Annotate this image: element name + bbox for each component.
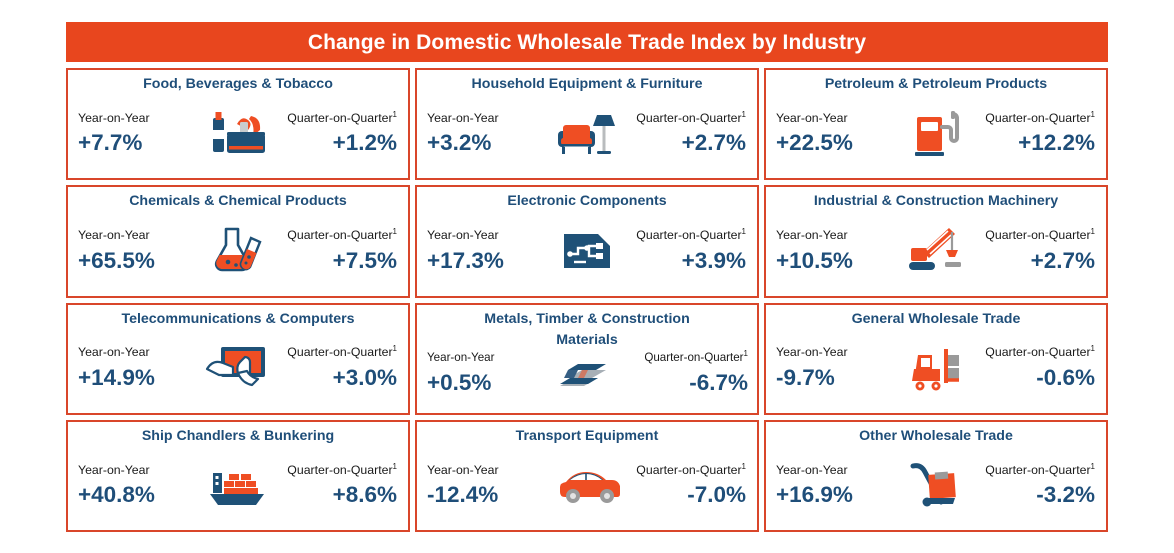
yoy-value: +22.5%: [776, 130, 853, 157]
qoq-label: Quarter-on-Quarter1: [287, 228, 397, 243]
card-title: Other Wholesale Trade: [774, 427, 1098, 444]
qoq-label: Quarter-on-Quarter1: [644, 351, 748, 365]
yoy-label: Year-on-Year: [776, 345, 848, 360]
card-body: Year-on-Year +17.3%: [425, 211, 749, 292]
yoy-metric: Year-on-Year +40.8%: [76, 463, 199, 509]
container-ship-icon: [201, 456, 275, 516]
card-body: Year-on-Year +65.5%: [76, 211, 400, 292]
sofa-lamp-icon: [550, 104, 624, 164]
footnote-marker: 1: [1091, 227, 1095, 236]
yoy-value: -9.7%: [776, 365, 835, 392]
card-title: Chemicals & Chemical Products: [76, 192, 400, 209]
yoy-metric: Year-on-Year +22.5%: [774, 111, 897, 157]
card-title: Food, Beverages & Tobacco: [76, 75, 400, 92]
card-title: General Wholesale Trade: [774, 310, 1098, 327]
qoq-value: +3.0%: [333, 365, 397, 392]
card-title: Telecommunications & Computers: [76, 310, 400, 327]
footnote-marker: 1: [742, 110, 746, 119]
car-icon: [550, 456, 624, 516]
page-title: Change in Domestic Wholesale Trade Index…: [308, 32, 866, 53]
yoy-label: Year-on-Year: [78, 345, 150, 360]
yoy-label: Year-on-Year: [427, 228, 499, 243]
qoq-value: +3.9%: [682, 248, 746, 275]
card-body: Year-on-Year +14.9% Quarter-on-Quarter1 …: [76, 328, 400, 409]
card-title: Electronic Components: [425, 192, 749, 209]
qoq-value: -0.6%: [1036, 365, 1095, 392]
crane-icon: [899, 221, 973, 281]
qoq-label: Quarter-on-Quarter1: [985, 228, 1095, 243]
card-body: Year-on-Year +10.5%: [774, 211, 1098, 292]
yoy-metric: Year-on-Year -12.4%: [425, 463, 548, 509]
card-title: Metals, Timber & Construction: [425, 310, 749, 327]
footnote-marker: 1: [1091, 344, 1095, 353]
title-banner: Change in Domestic Wholesale Trade Index…: [66, 22, 1108, 62]
yoy-label: Year-on-Year: [427, 463, 499, 478]
yoy-label: Year-on-Year: [776, 228, 848, 243]
qoq-value: +2.7%: [682, 130, 746, 157]
qoq-value: +8.6%: [333, 482, 397, 509]
footnote-marker: 1: [393, 227, 397, 236]
qoq-metric: Quarter-on-Quarter1 +8.6%: [277, 463, 400, 509]
yoy-value: +40.8%: [78, 482, 155, 509]
footnote-marker: 1: [393, 110, 397, 119]
card-title: Household Equipment & Furniture: [425, 75, 749, 92]
industry-card-telecommunications-computers[interactable]: Telecommunications & Computers Year-on-Y…: [66, 303, 410, 415]
qoq-value: -7.0%: [687, 482, 746, 509]
card-body: Year-on-Year +16.9% Quarter-on-Quarter1 …: [774, 445, 1098, 526]
qoq-label: Quarter-on-Quarter1: [287, 463, 397, 478]
qoq-value: -6.7%: [689, 370, 748, 397]
qoq-label: Quarter-on-Quarter1: [985, 345, 1095, 360]
yoy-label: Year-on-Year: [78, 111, 150, 126]
steel-beam-icon: [550, 344, 624, 404]
qoq-value: -3.2%: [1036, 482, 1095, 509]
card-body: Year-on-Year +0.5% Quarter-on-Quarter1: [425, 339, 749, 409]
card-body: Year-on-Year -12.4%: [425, 445, 749, 526]
yoy-value: +10.5%: [776, 248, 853, 275]
yoy-value: +65.5%: [78, 248, 155, 275]
card-title: Petroleum & Petroleum Products: [774, 75, 1098, 92]
yoy-value: +7.7%: [78, 130, 142, 157]
footnote-marker: 1: [393, 344, 397, 353]
yoy-value: -12.4%: [427, 482, 498, 509]
qoq-value: +2.7%: [1031, 248, 1095, 275]
yoy-value: +14.9%: [78, 365, 155, 392]
fuel-pump-icon: [899, 104, 973, 164]
footnote-marker: 1: [744, 349, 748, 358]
card-body: Year-on-Year +40.8%: [76, 445, 400, 526]
card-body: Year-on-Year -9.7%: [774, 328, 1098, 409]
yoy-value: +3.2%: [427, 130, 491, 157]
industry-card-grid: Food, Beverages & Tobacco Year-on-Year +…: [66, 68, 1108, 532]
yoy-label: Year-on-Year: [776, 111, 848, 126]
qoq-label: Quarter-on-Quarter1: [287, 111, 397, 126]
card-title: Industrial & Construction Machinery: [774, 192, 1098, 209]
tablet-touch-icon: [201, 338, 275, 398]
industry-card-chemicals[interactable]: Chemicals & Chemical Products Year-on-Ye…: [66, 185, 410, 297]
industry-card-electronic-components[interactable]: Electronic Components Year-on-Year +17.3…: [415, 185, 759, 297]
card-title: Transport Equipment: [425, 427, 749, 444]
yoy-metric: Year-on-Year +16.9%: [774, 463, 897, 509]
qoq-metric: Quarter-on-Quarter1 -0.6%: [975, 345, 1098, 391]
qoq-metric: Quarter-on-Quarter1 +3.9%: [626, 228, 749, 274]
industry-card-other-wholesale-trade[interactable]: Other Wholesale Trade Year-on-Year +16.9…: [764, 420, 1108, 532]
qoq-value: +7.5%: [333, 248, 397, 275]
yoy-value: +17.3%: [427, 248, 504, 275]
industry-card-household-equipment-furniture[interactable]: Household Equipment & Furniture Year-on-…: [415, 68, 759, 180]
yoy-metric: Year-on-Year +7.7%: [76, 111, 199, 157]
qoq-metric: Quarter-on-Quarter1 +7.5%: [277, 228, 400, 274]
qoq-label: Quarter-on-Quarter1: [985, 463, 1095, 478]
yoy-metric: Year-on-Year +10.5%: [774, 228, 897, 274]
qoq-label: Quarter-on-Quarter1: [985, 111, 1095, 126]
footnote-marker: 1: [742, 462, 746, 471]
industry-card-general-wholesale-trade[interactable]: General Wholesale Trade Year-on-Year -9.…: [764, 303, 1108, 415]
yoy-label: Year-on-Year: [78, 463, 150, 478]
qoq-metric: Quarter-on-Quarter1 +3.0%: [277, 345, 400, 391]
yoy-label: Year-on-Year: [776, 463, 848, 478]
qoq-value: +1.2%: [333, 130, 397, 157]
grocery-basket-icon: [201, 104, 275, 164]
card-body: Year-on-Year +3.2%: [425, 93, 749, 174]
qoq-label: Quarter-on-Quarter1: [636, 463, 746, 478]
footnote-marker: 1: [393, 462, 397, 471]
yoy-metric: Year-on-Year +17.3%: [425, 228, 548, 274]
qoq-metric: Quarter-on-Quarter1 -3.2%: [975, 463, 1098, 509]
yoy-metric: Year-on-Year +14.9%: [76, 345, 199, 391]
circuit-chip-icon: [550, 221, 624, 281]
card-body: Year-on-Year +7.7%: [76, 93, 400, 174]
qoq-metric: Quarter-on-Quarter1 +2.7%: [626, 111, 749, 157]
qoq-metric: Quarter-on-Quarter1 -7.0%: [626, 463, 749, 509]
yoy-label: Year-on-Year: [427, 111, 499, 126]
footnote-marker: 1: [742, 227, 746, 236]
card-title: Ship Chandlers & Bunkering: [76, 427, 400, 444]
qoq-metric: Quarter-on-Quarter1 -6.7%: [626, 351, 749, 396]
yoy-metric: Year-on-Year +0.5%: [425, 351, 548, 396]
yoy-value: +0.5%: [427, 370, 491, 397]
hand-truck-icon: [899, 456, 973, 516]
yoy-label: Year-on-Year: [78, 228, 150, 243]
footnote-marker: 1: [1091, 462, 1095, 471]
qoq-metric: Quarter-on-Quarter1 +1.2%: [277, 111, 400, 157]
qoq-label: Quarter-on-Quarter1: [636, 228, 746, 243]
flask-test-tube-icon: [201, 221, 275, 281]
industry-card-ship-chandlers-bunkering[interactable]: Ship Chandlers & Bunkering Year-on-Year …: [66, 420, 410, 532]
wholesale-trade-infographic: Change in Domestic Wholesale Trade Index…: [0, 0, 1174, 553]
yoy-label: Year-on-Year: [427, 351, 494, 365]
qoq-metric: Quarter-on-Quarter1 +2.7%: [975, 228, 1098, 274]
qoq-value: +12.2%: [1018, 130, 1095, 157]
forklift-icon: [899, 338, 973, 398]
industry-card-food-beverages-tobacco[interactable]: Food, Beverages & Tobacco Year-on-Year +…: [66, 68, 410, 180]
industry-card-transport-equipment[interactable]: Transport Equipment Year-on-Year -12.4%: [415, 420, 759, 532]
yoy-metric: Year-on-Year +65.5%: [76, 228, 199, 274]
footnote-marker: 1: [1091, 110, 1095, 119]
industry-card-industrial-construction-machinery[interactable]: Industrial & Construction Machinery Year…: [764, 185, 1108, 297]
qoq-label: Quarter-on-Quarter1: [636, 111, 746, 126]
card-body: Year-on-Year +22.5% Quarter-on-Quarter1 …: [774, 93, 1098, 174]
yoy-metric: Year-on-Year +3.2%: [425, 111, 548, 157]
qoq-label: Quarter-on-Quarter1: [287, 345, 397, 360]
yoy-value: +16.9%: [776, 482, 853, 509]
industry-card-petroleum-products[interactable]: Petroleum & Petroleum Products Year-on-Y…: [764, 68, 1108, 180]
yoy-metric: Year-on-Year -9.7%: [774, 345, 897, 391]
industry-card-metals-timber-construction-materials[interactable]: Metals, Timber & Construction Materials …: [415, 303, 759, 415]
qoq-metric: Quarter-on-Quarter1 +12.2%: [975, 111, 1098, 157]
